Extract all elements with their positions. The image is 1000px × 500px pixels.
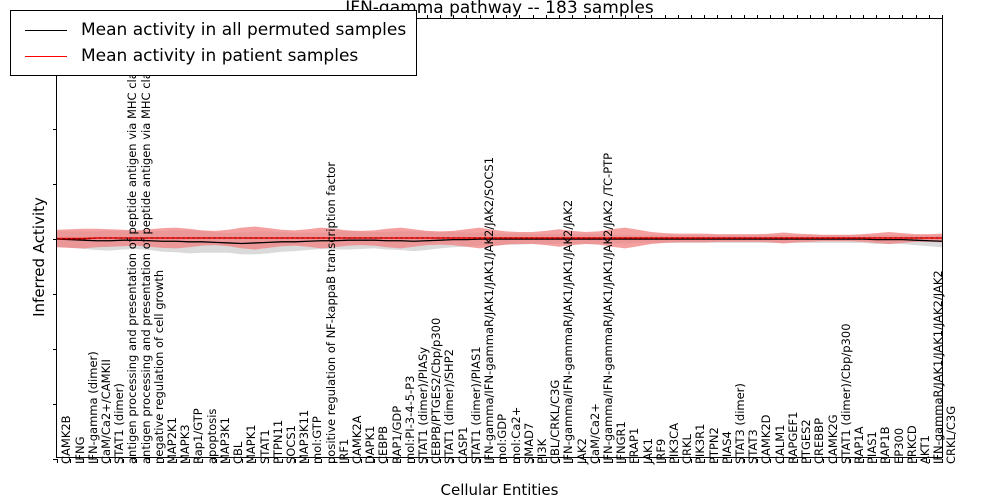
x-tick-label: AKT1 [920,435,932,464]
x-tick-mark-top [506,15,507,19]
x-tick-label: RAP1A [854,426,866,464]
x-tick-mark-top [599,15,600,19]
x-tick-label: RAPGEF1 [788,412,800,464]
legend-swatch-patient [25,56,67,57]
x-tick-mark-top [440,15,441,19]
x-tick-label: PIK3R1 [695,424,707,465]
x-tick-label: mol:GTP [312,416,324,464]
x-tick-mark-top [651,15,652,19]
legend-label-permuted: Mean activity in all permuted samples [81,20,406,40]
x-tick-mark-top [480,15,481,19]
x-tick-label: CBL [233,442,245,464]
x-tick-mark-top [678,15,679,19]
x-tick-label: PIAS1 [867,431,879,464]
y-tick-mark [53,404,57,405]
x-tick-label: STAT3 (dimer) [735,383,747,464]
x-tick-mark-top [519,15,520,19]
x-tick-label: JAK1 [643,438,655,464]
legend-entry-patient: Mean activity in patient samples [19,43,406,69]
x-tick-label: CAMK2A [352,415,364,464]
x-tick-label: IRF9 [656,439,668,464]
x-tick-label: IFN-gamma (dimer) [88,351,100,464]
x-tick-mark-top [453,15,454,19]
x-tick-label: RAP1/GDP [392,406,404,464]
y-tick-mark [53,184,57,185]
y-tick-mark [53,349,57,350]
x-tick-mark-top [889,15,890,19]
x-tick-mark-top [493,15,494,19]
x-tick-mark-top [783,15,784,19]
x-tick-label: PRKCD [907,425,919,464]
y-tick-mark [53,294,57,295]
x-tick-label: SMAD7 [524,423,536,464]
x-tick-mark-top [625,15,626,19]
legend-entry-permuted: Mean activity in all permuted samples [19,17,406,43]
plot-area: 43210−1−2−3−4 Inferred Activity CAMK2BIF… [56,18,943,458]
x-tick-mark-top [731,15,732,19]
x-tick-label: CEBPB [378,426,390,464]
x-tick-mark-top [863,15,864,19]
x-tick-mark-top [823,15,824,19]
x-tick-label: CAMK2D [761,414,773,464]
x-tick-mark-top [876,15,877,19]
x-tick-label: mol:PI-3-4-5-P3 [405,376,417,464]
x-tick-label: JAK2 [577,438,589,464]
y-tick-mark [53,239,57,240]
x-tick-mark-top [665,15,666,19]
x-tick-label: PIAS4 [722,431,734,464]
x-tick-label: CRKL [682,434,694,464]
x-tick-label: IFNGR1 [616,421,628,464]
x-tick-label: PTPN11 [273,420,285,464]
x-tick-label: SOCS1 [286,425,298,464]
x-tick-label: DAPK1 [365,426,377,464]
x-tick-label: antigen processing and presentation of p… [127,53,139,464]
x-tick-label: MAP3K1 [220,417,232,464]
x-tick-label: PTGES2 [801,419,813,464]
x-tick-label: PIK3CA [669,423,681,464]
y-tick-mark [53,129,57,130]
x-tick-label: antigen processing and presentation of p… [141,50,153,464]
x-tick-mark-top [691,15,692,19]
x-tick-label: STAT1 (dimer)/PIAS1 [471,346,483,464]
x-tick-mark-top [466,15,467,19]
x-tick-mark-top [797,15,798,19]
x-tick-label: EP300 [894,428,906,464]
data-canvas [57,19,942,457]
x-tick-mark-top [704,15,705,19]
x-tick-label: CREBBP [814,418,826,464]
plot-clip [57,19,942,457]
x-tick-label: CASP1 [458,427,470,464]
x-tick-mark-top [929,15,930,19]
x-tick-label: PI3K [537,439,549,464]
x-tick-mark-top [902,15,903,19]
x-tick-label: MAP2K1 [167,417,179,464]
x-tick-label: RAP1B [880,426,892,464]
x-tick-label: CaM/Ca2+/CAMKII [101,359,113,464]
legend: Mean activity in all permuted samples Me… [10,10,417,76]
legend-swatch-permuted [25,30,67,31]
x-tick-mark-top [572,15,573,19]
x-tick-mark-top [810,15,811,19]
figure: IFN-gamma pathway -- 183 samples 43210−1… [0,0,1000,500]
x-tick-label: CAMK2B [61,415,73,464]
x-tick-mark [57,459,58,463]
x-tick-mark-top [533,15,534,19]
x-tick-label: IFN-gamma/IFN-gammaR/JAK1/JAK1/JAK2/JAK2 [563,200,575,464]
x-tick-label: mol:GDP [497,414,509,464]
x-tick-label: mol:Ca2+ [511,407,523,464]
x-tick-label: STAT1 [260,429,272,464]
x-tick-label: IFN-gamma/IFN-gammaR/JAK1/JAK1/JAK2/JAK2… [603,153,615,464]
x-tick-label: apoptosis [207,409,219,464]
x-tick-mark-top [546,15,547,19]
x-tick-label: MAPK1 [246,424,258,464]
x-tick-label: STAT1 (dimer)/PIASy [418,347,430,464]
x-tick-mark-top [757,15,758,19]
x-tick-label: CRKL/C3G [946,406,958,464]
x-tick-label: CALM1 [775,424,787,464]
x-tick-mark-top [836,15,837,19]
y-axis-label: Inferred Activity [30,197,48,317]
x-tick-label: IFN-gammaR/JAK1/JAK1/JAK2/JAK2 [933,270,945,464]
x-tick-label: STAT1 (dimer) [114,383,126,464]
x-tick-mark-top [717,15,718,19]
x-tick-mark-top [916,15,917,19]
x-tick-mark-top [770,15,771,19]
x-tick-mark-top [744,15,745,19]
x-tick-mark-top [585,15,586,19]
x-tick-label: PTPN2 [709,427,721,464]
x-tick-label: negative regulation of cell growth [154,270,166,464]
x-tick-label: FRAP1 [629,428,641,464]
x-tick-label: STAT1 (dimer)/Cbp/p300 [841,323,853,464]
x-tick-label: CaM/Ca2+ [590,403,602,464]
x-tick-label: CAMK2G [828,414,840,464]
x-tick-label: IFN-gamma/IFN-gammaR/JAK1/JAK1/JAK2/JAK2… [484,157,496,464]
x-tick-label: IRF1 [339,439,351,464]
x-tick-label: positive regulation of NF-kappaB transcr… [326,162,338,464]
x-axis-label: Cellular Entities [56,481,943,499]
x-tick-mark-top [427,15,428,19]
x-tick-label: IFNG [75,436,87,464]
x-tick-mark-top [612,15,613,19]
x-tick-mark-top [638,15,639,19]
x-tick-mark-top [559,15,560,19]
x-tick-label: Rap1/GTP [193,408,205,464]
x-tick-label: MAP3K11 [299,410,311,464]
x-tick-label: CBL/CRKL/C3G [550,380,562,464]
x-tick-mark-top [942,15,943,19]
x-tick-mark-top [850,15,851,19]
x-tick-label: STAT1 (dimer)/SHP2 [444,349,456,464]
legend-label-patient: Mean activity in patient samples [81,46,358,66]
